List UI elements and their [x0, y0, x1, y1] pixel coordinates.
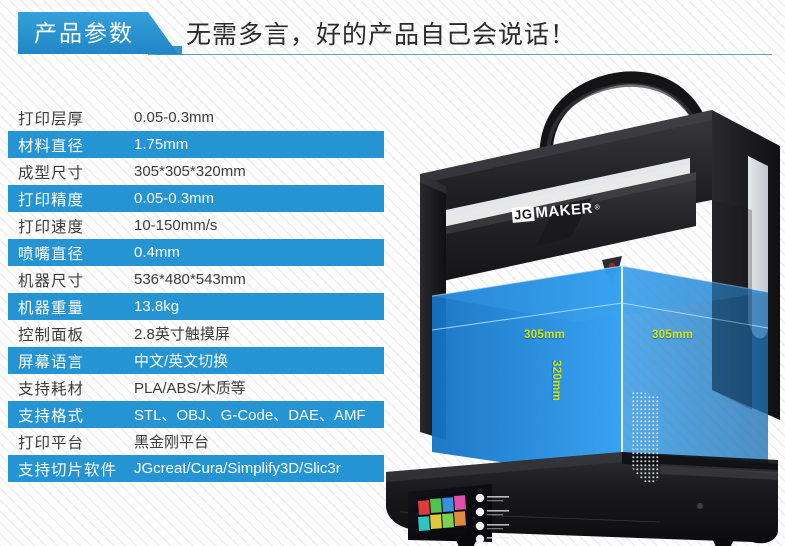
spec-label: 机器尺寸 — [8, 269, 134, 291]
spec-value: 0.05-0.3mm — [134, 190, 384, 207]
foot-left — [456, 540, 476, 546]
spec-row: 打印速度10-150mm/s — [8, 212, 384, 239]
spec-label: 喷嘴直径 — [8, 242, 134, 264]
dimension-label-height: 320mm — [550, 360, 562, 401]
dimension-label-width-right: 305mm — [652, 329, 693, 341]
spec-label: 成型尺寸 — [8, 161, 134, 183]
spec-row: 喷嘴直径0.4mm — [8, 239, 384, 266]
dimension-label-width-left: 305mm — [524, 329, 565, 341]
spec-label: 打印层厚 — [8, 107, 134, 129]
section-tag-label: 产品参数 — [18, 22, 134, 45]
spec-value: 10-150mm/s — [134, 217, 384, 234]
spec-row: 屏幕语言中文/英文切换 — [8, 347, 384, 374]
foot-right — [712, 538, 734, 546]
header-divider-line — [148, 54, 772, 55]
registered-trademark-icon: ® — [594, 204, 600, 211]
spec-value: JGcreat/Cura/Simplify3D/Slic3r — [134, 460, 384, 477]
spec-label: 支持切片软件 — [8, 458, 134, 480]
specification-table: 打印层厚0.05-0.3mm材料直径1.75mm成型尺寸305*305*320m… — [8, 104, 384, 482]
spec-row: 机器尺寸536*480*543mm — [8, 266, 384, 293]
spec-label: 支持格式 — [8, 404, 134, 426]
spec-value: 13.8kg — [134, 298, 384, 315]
spec-label: 屏幕语言 — [8, 350, 134, 372]
spec-row: 机器重量13.8kg — [8, 293, 384, 320]
section-tag: 产品参数 — [18, 12, 178, 54]
spec-row: 支持切片软件JGcreat/Cura/Simplify3D/Slic3r — [8, 455, 384, 482]
spec-value: PLA/ABS/木质等 — [134, 377, 384, 398]
spec-label: 打印速度 — [8, 215, 134, 237]
spec-value: 536*480*543mm — [134, 271, 384, 288]
spec-label: 机器重量 — [8, 296, 134, 318]
printer-graphic — [360, 60, 785, 546]
page-title: 无需多言，好的产品自己会说话！ — [186, 12, 576, 54]
spec-value: 0.4mm — [134, 244, 384, 261]
spec-row: 打印平台黑金刚平台 — [8, 428, 384, 455]
spec-row: 支持耗材PLA/ABS/木质等 — [8, 374, 384, 401]
spec-value: STL、OBJ、G-Code、DAE、AMF — [134, 404, 384, 425]
product-spec-page: 产品参数 无需多言，好的产品自己会说话！ 打印层厚0.05-0.3mm材料直径1… — [0, 0, 785, 546]
touchscreen-display — [416, 492, 466, 534]
spec-value: 黑金刚平台 — [134, 431, 384, 452]
printer-illustration: JG MAKER ® 305mm 305mm 320mm — [360, 60, 785, 546]
spec-row: 打印层厚0.05-0.3mm — [8, 104, 384, 131]
spec-value: 305*305*320mm — [134, 163, 384, 180]
spec-row: 控制面板2.8英寸触摸屏 — [8, 320, 384, 347]
spec-value: 2.8英寸触摸屏 — [134, 323, 384, 344]
spec-row: 支持格式STL、OBJ、G-Code、DAE、AMF — [8, 401, 384, 428]
spec-value: 1.75mm — [134, 136, 384, 153]
spec-row: 打印精度0.05-0.3mm — [8, 185, 384, 212]
base-port — [697, 503, 703, 509]
spec-value: 中文/英文切换 — [134, 350, 384, 371]
vent-strip — [632, 390, 660, 483]
page-header: 产品参数 无需多言，好的产品自己会说话！ — [0, 0, 785, 66]
spec-label: 打印平台 — [8, 431, 134, 453]
spec-row: 材料直径1.75mm — [8, 131, 384, 158]
spec-label: 支持耗材 — [8, 377, 134, 399]
brand-mark: JG — [512, 206, 536, 223]
spec-label: 材料直径 — [8, 134, 134, 156]
spec-row: 成型尺寸305*305*320mm — [8, 158, 384, 185]
spec-label: 控制面板 — [8, 323, 134, 345]
spec-label: 打印精度 — [8, 188, 134, 210]
spec-value: 0.05-0.3mm — [134, 109, 384, 126]
